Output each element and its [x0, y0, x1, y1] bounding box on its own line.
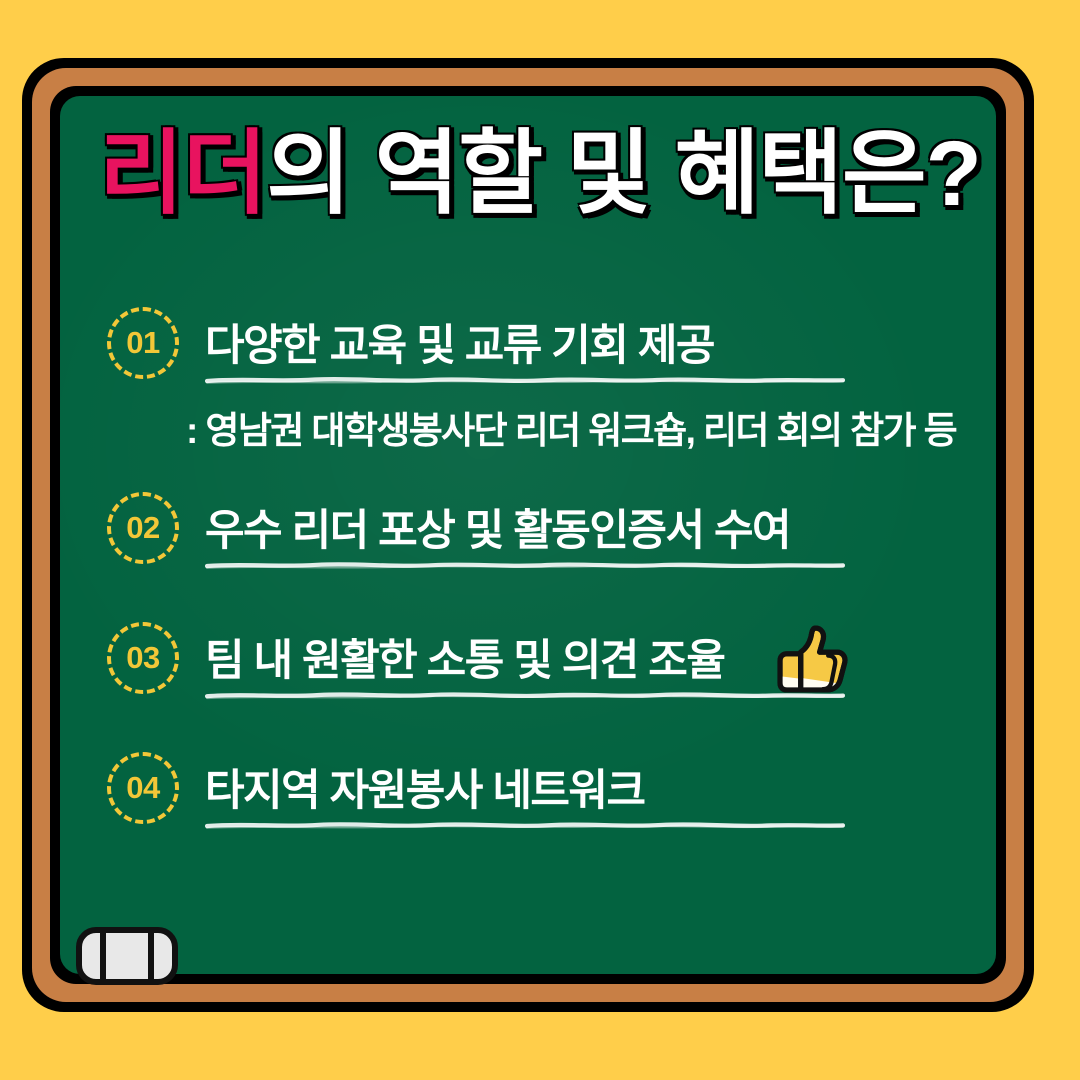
- item-subtext: : 영남권 대학생봉사단 리더 워크숍, 리더 회의 참가 등: [186, 412, 956, 449]
- item-label: 우수 리더 포상 및 활동인증서 수여: [205, 510, 790, 553]
- page-title: 리더의 역할 및 혜택은?: [0, 128, 1080, 220]
- item-label: 타지역 자원봉사 네트워크: [205, 770, 645, 813]
- chalkboard-eraser: [76, 927, 178, 985]
- chalk-underline: [205, 689, 845, 701]
- item-number-badge: 01: [107, 307, 179, 379]
- chalk-underline: [205, 559, 845, 571]
- chalk-underline: [205, 819, 845, 831]
- item-number-badge: 04: [107, 752, 179, 824]
- item-label: 팀 내 원활한 소통 및 의견 조율: [205, 640, 724, 683]
- item-number-badge: 02: [107, 492, 179, 564]
- item-label: 다양한 교육 및 교류 기회 제공: [205, 325, 714, 368]
- item-number-badge: 03: [107, 622, 179, 694]
- page-title-rest: 의 역할 및 혜택은?: [266, 123, 980, 225]
- page-title-highlight: 리더: [99, 123, 266, 225]
- poster-canvas: 리더의 역할 및 혜택은? 01 다양한 교육 및 교류 기회 제공 : 영남권…: [0, 0, 1080, 1080]
- chalk-underline: [205, 374, 845, 386]
